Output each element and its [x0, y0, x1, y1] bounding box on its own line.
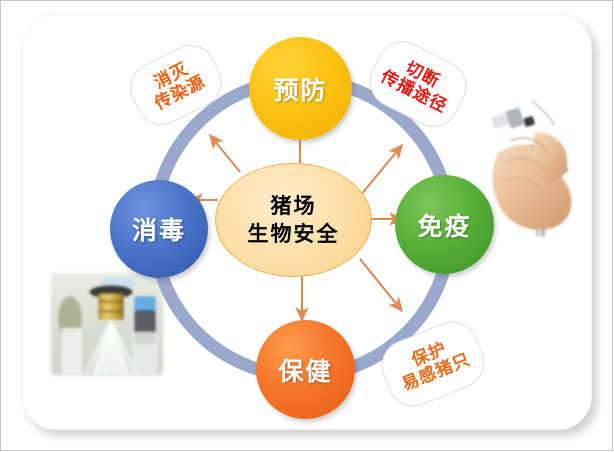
node-immunity-label: 免疫 [417, 207, 471, 243]
center-title-line2: 生物安全 [248, 220, 340, 248]
node-healthcare[interactable]: 保健 [256, 320, 355, 419]
node-disinfection-label: 消毒 [132, 211, 186, 247]
center-biosecurity-ellipse[interactable]: 猪场 生物安全 [215, 163, 372, 277]
center-title-line1: 猪场 [271, 192, 317, 220]
node-healthcare-label: 保健 [278, 352, 332, 388]
node-immunity[interactable]: 免疫 [395, 175, 494, 274]
node-prevention[interactable]: 预防 [249, 37, 352, 140]
node-disinfection[interactable]: 消毒 [110, 180, 208, 278]
node-prevention-label: 预防 [273, 71, 327, 107]
figure-canvas: 预防 免疫 保健 消毒 猪场 生物安全 消灭 传染源 切断 传播途径 保护 易感… [0, 0, 614, 452]
